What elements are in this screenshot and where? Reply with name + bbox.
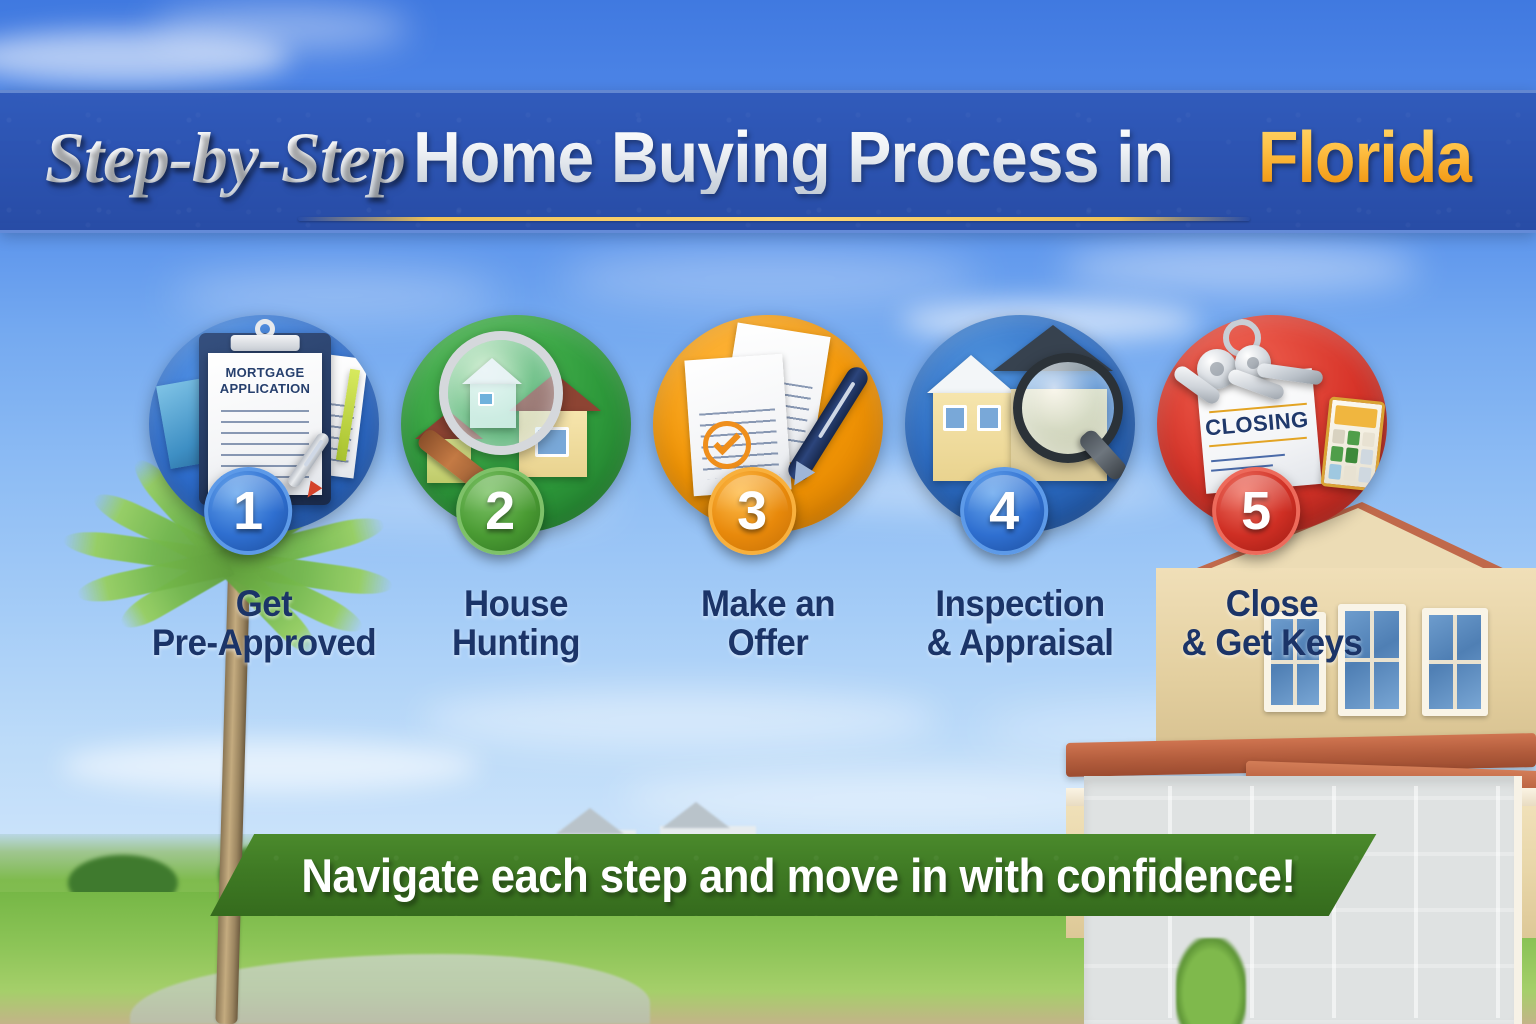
title-part-1: Step-by-Step bbox=[45, 118, 413, 198]
step-label-3-line-1: Make an bbox=[701, 583, 835, 624]
cloud bbox=[150, 6, 410, 50]
step-number-3: 3 bbox=[737, 480, 767, 542]
doc-title-line-1: MORTGAGE bbox=[226, 365, 305, 380]
magnified-window bbox=[478, 392, 494, 406]
cloud bbox=[170, 270, 500, 320]
ribbon-text: Navigate each step and move in with conf… bbox=[301, 848, 1295, 903]
title-part-2: Home Buying Process in bbox=[413, 122, 1173, 194]
bottom-ribbon: Navigate each step and move in with conf… bbox=[203, 834, 1393, 916]
step-number-1: 1 bbox=[233, 480, 263, 542]
step-number-2: 2 bbox=[485, 480, 515, 542]
step-label-1: Get Pre-Approved bbox=[151, 585, 377, 663]
magnified-roof bbox=[462, 358, 522, 384]
step-circle-4[interactable]: 4 bbox=[905, 315, 1135, 533]
cloud bbox=[420, 690, 940, 748]
step-label-2-line-1: House bbox=[464, 583, 568, 624]
step-item-4[interactable]: 4 Inspection & Appraisal bbox=[900, 315, 1140, 663]
step-circle-1[interactable]: MORTGAGE APPLICATION 1 bbox=[149, 315, 379, 533]
cloud bbox=[560, 250, 980, 306]
step-label-1-line-1: Get bbox=[236, 583, 293, 624]
step-item-5[interactable]: CLOSING bbox=[1152, 315, 1392, 663]
step-badge-5: 5 bbox=[1212, 467, 1300, 555]
magnified-house bbox=[470, 384, 516, 428]
doc-title-line-2: APPLICATION bbox=[220, 381, 310, 396]
title-accent-florida: Florida bbox=[1258, 122, 1472, 194]
step-label-2: House Hunting bbox=[403, 585, 629, 663]
calculator-icon bbox=[1320, 396, 1385, 491]
title-banner: Step-by-StepHome Buying Process in Flori… bbox=[0, 90, 1536, 233]
step-badge-1: 1 bbox=[204, 467, 292, 555]
step-label-5: Close & Get Keys bbox=[1159, 585, 1385, 663]
step-number-5: 5 bbox=[1241, 480, 1271, 542]
step-label-5-line-1: Close bbox=[1226, 583, 1318, 624]
house-gable-roof bbox=[927, 355, 1015, 393]
step-number-4: 4 bbox=[989, 480, 1019, 542]
step-item-2[interactable]: 2 House Hunting bbox=[396, 315, 636, 663]
step-item-1[interactable]: MORTGAGE APPLICATION 1 Get Pre-Approved bbox=[144, 315, 384, 663]
distant-house-roof bbox=[662, 802, 730, 828]
step-item-3[interactable]: 3 Make an Offer bbox=[648, 315, 888, 663]
step-badge-2: 2 bbox=[456, 467, 544, 555]
step-badge-4: 4 bbox=[960, 467, 1048, 555]
step-label-2-line-2: Hunting bbox=[452, 622, 580, 663]
house-window bbox=[943, 405, 967, 431]
calculator-screen bbox=[1334, 405, 1378, 428]
garage-trim bbox=[1514, 776, 1522, 1024]
step-circle-2[interactable]: 2 bbox=[401, 315, 631, 533]
step-label-1-line-2: Pre-Approved bbox=[152, 622, 376, 663]
page-title: Step-by-StepHome Buying Process in Flori… bbox=[45, 122, 1491, 194]
step-circle-5[interactable]: CLOSING bbox=[1157, 315, 1387, 533]
step-label-4-line-1: Inspection bbox=[935, 583, 1104, 624]
step-label-4-line-2: & Appraisal bbox=[927, 622, 1114, 663]
step-label-5-line-2: & Get Keys bbox=[1182, 622, 1363, 663]
step-label-4: Inspection & Appraisal bbox=[907, 585, 1133, 663]
step-badge-3: 3 bbox=[708, 467, 796, 555]
cloud bbox=[1060, 244, 1420, 292]
clipboard-clip bbox=[231, 335, 300, 351]
step-circle-3[interactable]: 3 bbox=[653, 315, 883, 533]
magnifier-lens bbox=[439, 331, 563, 455]
distant-house-roof bbox=[556, 808, 624, 834]
step-label-3-line-2: Offer bbox=[728, 622, 809, 663]
title-underline bbox=[298, 217, 1250, 221]
calculator-keys bbox=[1328, 428, 1375, 483]
steps-row: MORTGAGE APPLICATION 1 Get Pre-Approved bbox=[0, 315, 1536, 685]
shrub bbox=[1176, 938, 1246, 1024]
house-window bbox=[977, 405, 1001, 431]
step-label-3: Make an Offer bbox=[655, 585, 881, 663]
